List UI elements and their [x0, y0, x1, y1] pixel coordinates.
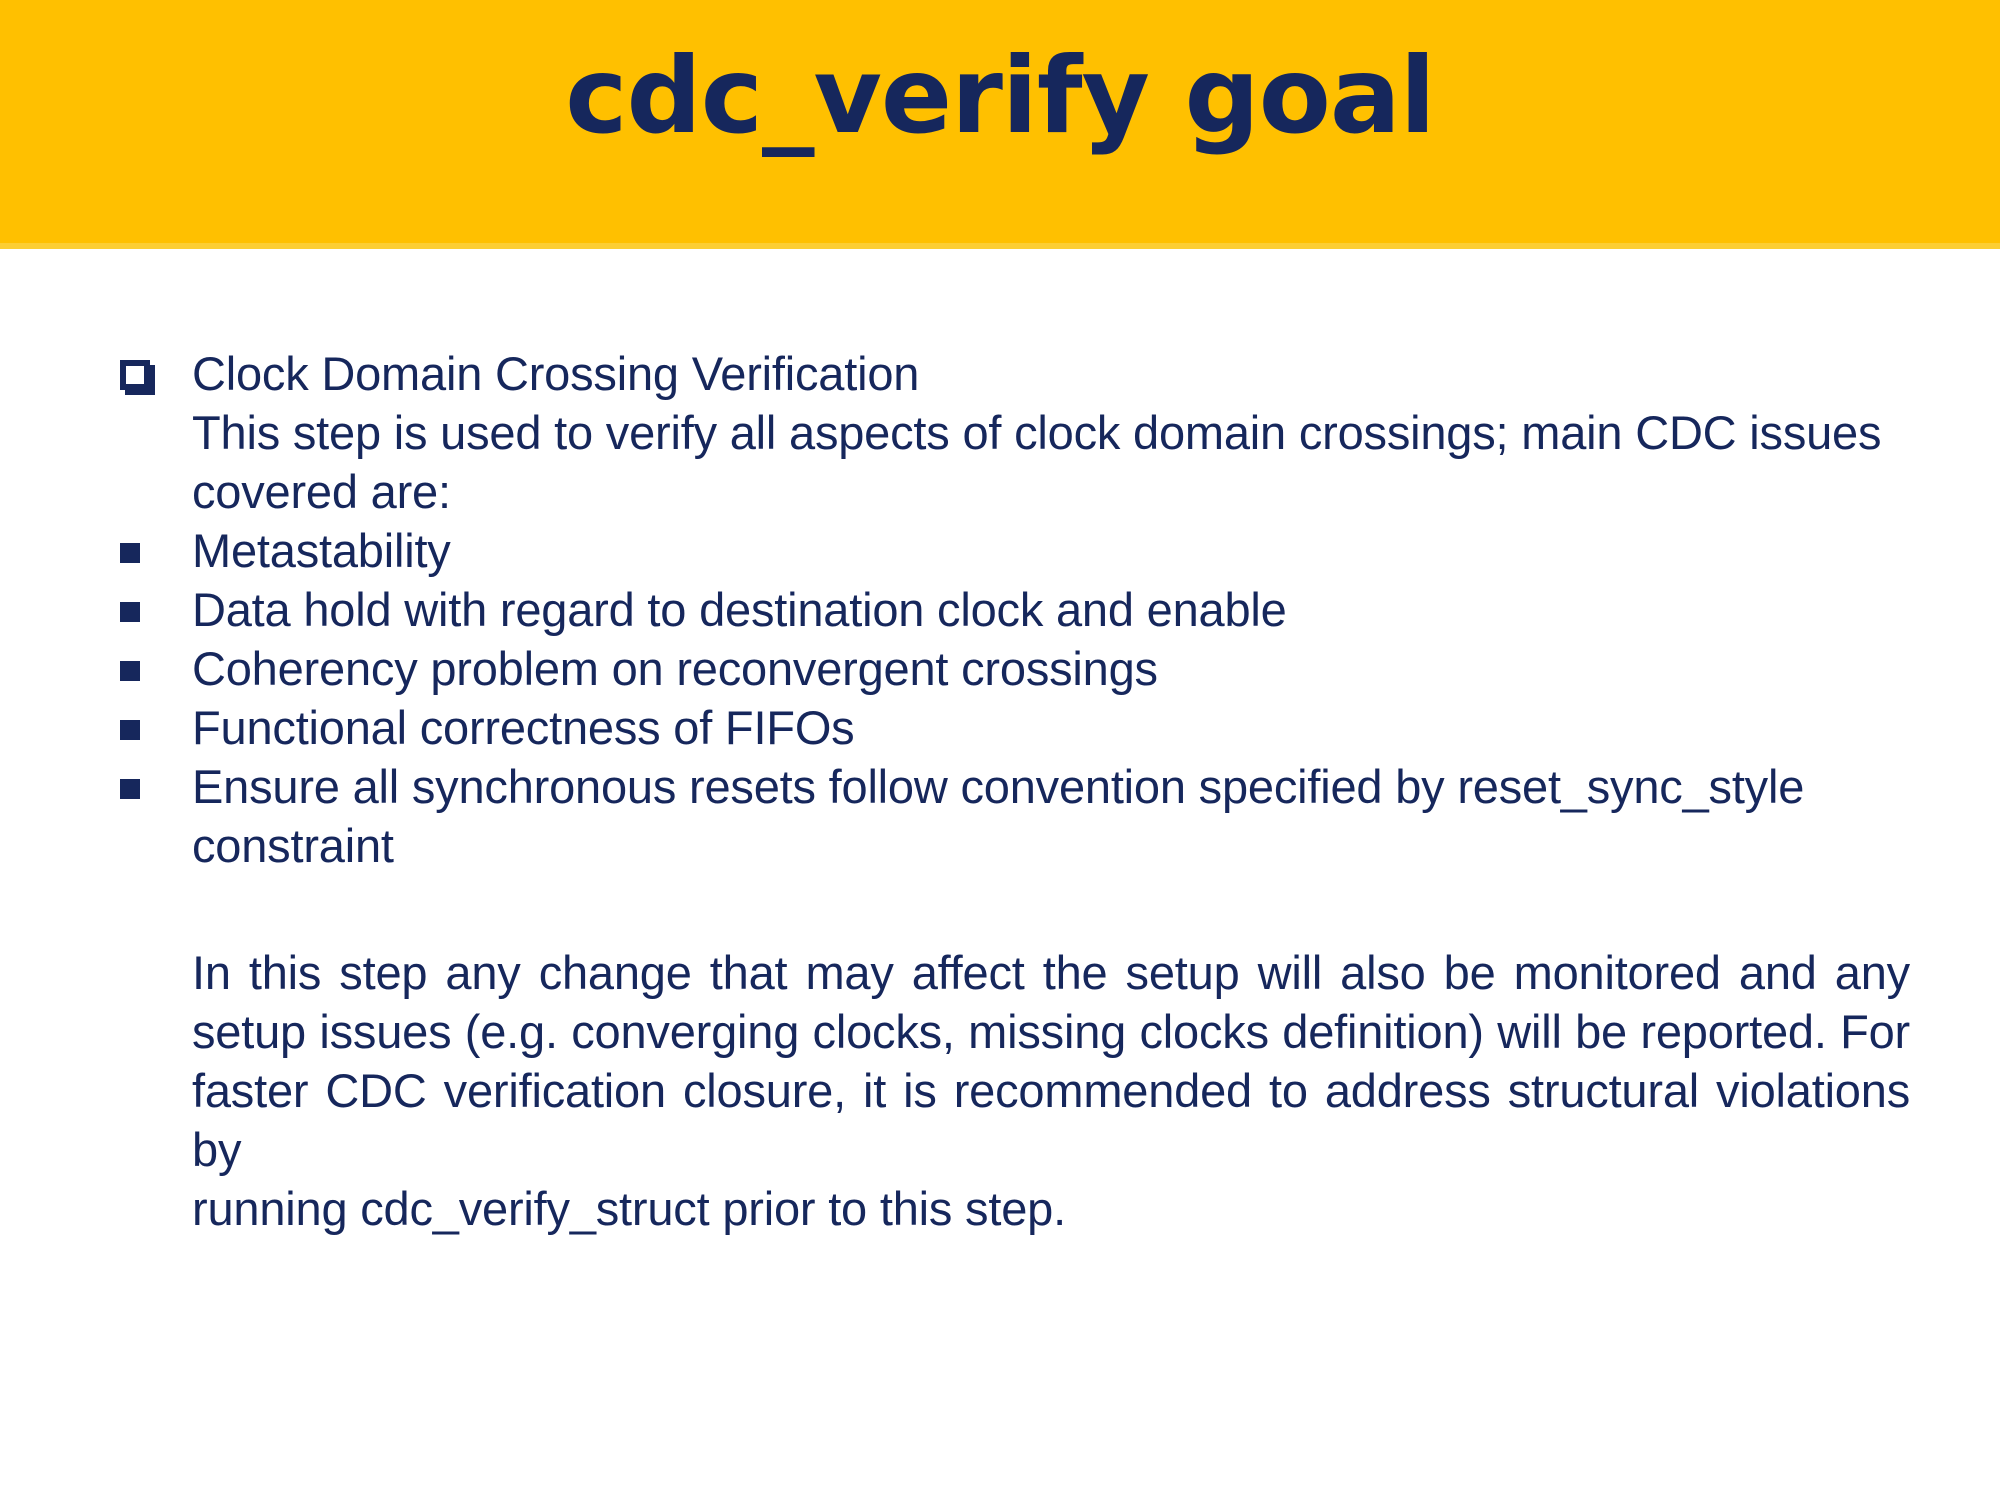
filled-square-glyph	[120, 720, 140, 740]
filled-square-bullet-icon	[120, 639, 192, 681]
filled-square-bullet-icon	[120, 521, 192, 563]
sub-bullet-label: Coherency problem on reconvergent crossi…	[192, 639, 1910, 698]
heading-bullet-label: Clock Domain Crossing Verification	[192, 344, 1910, 403]
closing-paragraph-last-line: running cdc_verify_struct prior to this …	[192, 1179, 1910, 1238]
slide-title: cdc_verify goal	[0, 36, 2000, 156]
slide: cdc_verify goal Clock Domain Crossing Ve…	[0, 0, 2000, 1500]
filled-square-glyph	[120, 661, 140, 681]
content-block: Clock Domain Crossing Verification This …	[120, 344, 1910, 1238]
intro-paragraph: This step is used to verify all aspects …	[192, 403, 1910, 521]
filled-square-bullet-icon	[120, 757, 192, 799]
hollow-square-glyph	[120, 360, 150, 390]
hollow-square-bullet-icon	[120, 344, 192, 390]
title-banner: cdc_verify goal	[0, 0, 2000, 243]
list-item: Data hold with regard to destination clo…	[120, 580, 1910, 639]
sub-bullet-label: Functional correctness of FIFOs	[192, 698, 1910, 757]
filled-square-glyph	[120, 779, 140, 799]
filled-square-glyph	[120, 602, 140, 622]
filled-square-bullet-icon	[120, 698, 192, 740]
sub-bullet-label: Data hold with regard to destination clo…	[192, 580, 1910, 639]
paragraph-spacer	[120, 875, 1910, 943]
sub-bullet-label: Metastability	[192, 521, 1910, 580]
closing-paragraph: In this step any change that may affect …	[192, 943, 1910, 1238]
slide-body: Clock Domain Crossing Verification This …	[0, 249, 2000, 1500]
list-item: Ensure all synchronous resets follow con…	[120, 757, 1910, 875]
list-item: Functional correctness of FIFOs	[120, 698, 1910, 757]
filled-square-bullet-icon	[120, 580, 192, 622]
closing-paragraph-body: In this step any change that may affect …	[192, 946, 1910, 1176]
list-item: Coherency problem on reconvergent crossi…	[120, 639, 1910, 698]
list-item: Clock Domain Crossing Verification	[120, 344, 1910, 403]
sub-bullet-label: Ensure all synchronous resets follow con…	[192, 757, 1910, 875]
filled-square-glyph	[120, 543, 140, 563]
list-item: Metastability	[120, 521, 1910, 580]
